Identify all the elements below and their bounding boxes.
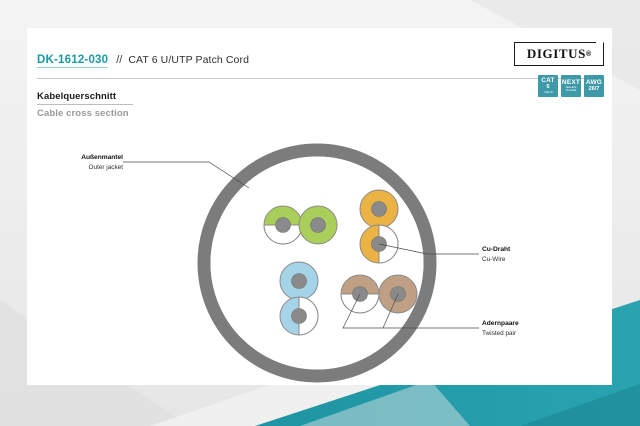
blue-wire-striped xyxy=(280,297,318,335)
twisted-pair-label-en: Twisted pair xyxy=(482,330,517,337)
green-wire-solid xyxy=(299,206,337,244)
cable-interior xyxy=(211,157,424,370)
outer-jacket-label-de: Außenmantel xyxy=(81,154,123,161)
cu-wire-label-de: Cu-Draht xyxy=(482,246,511,253)
green-wire-striped xyxy=(264,206,302,244)
cable-cross-section-diagram: Außenmantel Outer jacket Cu-Draht Cu-Wir… xyxy=(27,28,612,385)
blue-wire-solid xyxy=(280,262,318,300)
twisted-pair-label-de: Adernpaare xyxy=(482,320,519,327)
orange-wire-solid xyxy=(360,190,398,228)
content-card: DK-1612-030 // CAT 6 U/UTP Patch Cord DI… xyxy=(27,28,612,385)
outer-jacket-label-en: Outer jacket xyxy=(89,164,124,171)
cu-wire-label-en: Cu-Wire xyxy=(482,256,506,263)
